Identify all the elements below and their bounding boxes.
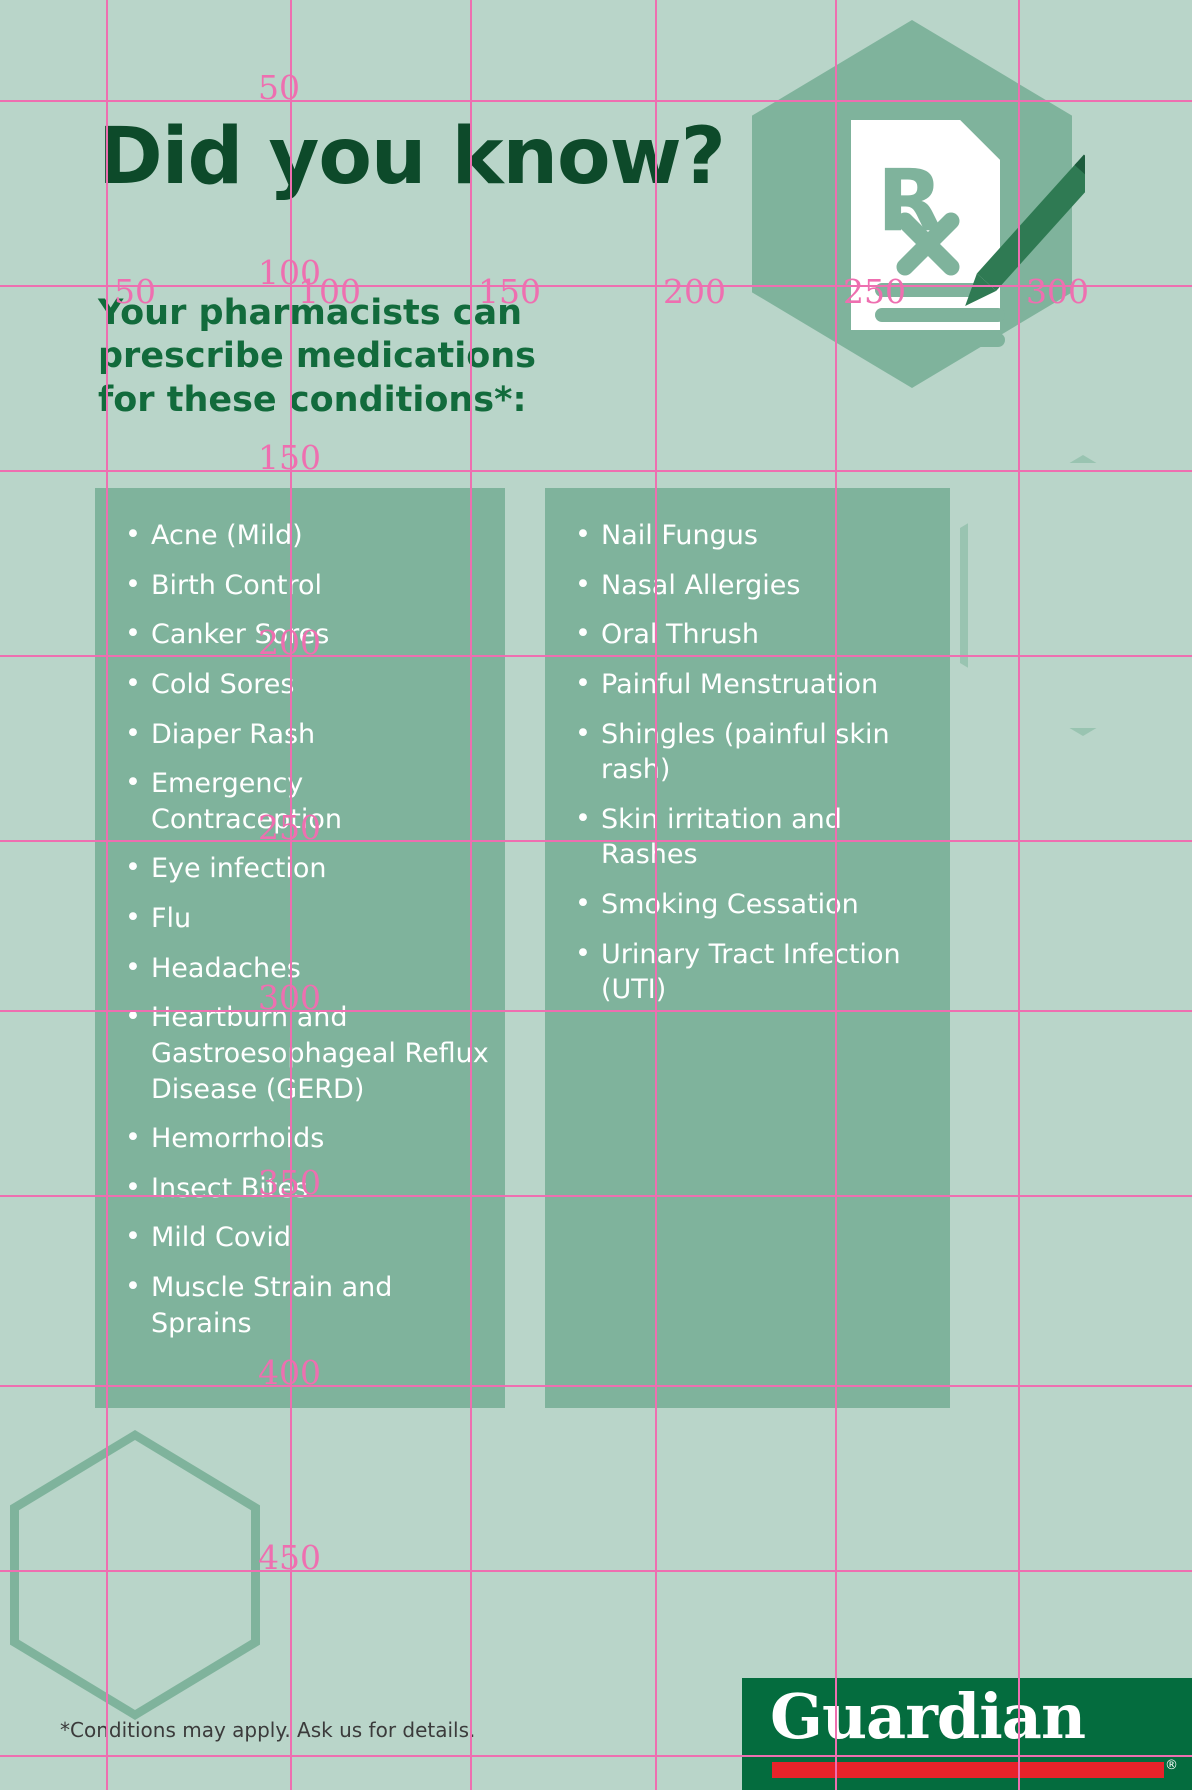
page-subtitle: Your pharmacists can prescribe medicatio… [98, 292, 618, 422]
list-item: Flu [121, 901, 491, 937]
conditions-panel-right: Nail FungusNasal AllergiesOral ThrushPai… [545, 488, 950, 1408]
list-item: Mild Covid [121, 1220, 491, 1256]
list-item: Emergency Contraception [121, 766, 491, 837]
guardian-logo: Guardian ® [742, 1678, 1192, 1790]
conditions-panel-left: Acne (Mild)Birth ControlCanker SoresCold… [95, 488, 505, 1408]
registered-trademark-mark: ® [1165, 1758, 1178, 1773]
subtitle-line-3: for these conditions*: [98, 379, 618, 422]
rx-prescription-icon: R [755, 35, 1085, 375]
conditions-list-left: Acne (Mild)Birth ControlCanker SoresCold… [121, 518, 491, 1355]
guardian-wordmark: Guardian [770, 1686, 1085, 1748]
list-item: Heartburn and Gastroesophageal Reflux Di… [121, 1000, 491, 1107]
list-item: Urinary Tract Infection (UTI) [571, 937, 936, 1008]
list-item: Oral Thrush [571, 617, 936, 653]
list-item: Nail Fungus [571, 518, 936, 554]
list-item: Cold Sores [121, 667, 491, 703]
list-item: Eye infection [121, 851, 491, 887]
list-item: Diaper Rash [121, 717, 491, 753]
list-item: Nasal Allergies [571, 568, 936, 604]
footnote-disclaimer: *Conditions may apply. Ask us for detail… [60, 1718, 475, 1742]
list-item: Canker Sores [121, 617, 491, 653]
list-item: Shingles (painful skin rash) [571, 717, 936, 788]
subtitle-line-1: Your pharmacists can [98, 292, 618, 335]
list-item: Hemorrhoids [121, 1121, 491, 1157]
guardian-red-bar [772, 1762, 1164, 1778]
page-title: Did you know? [98, 118, 725, 196]
list-item: Muscle Strain and Sprains [121, 1270, 491, 1341]
list-item: Painful Menstruation [571, 667, 936, 703]
list-item: Birth Control [121, 568, 491, 604]
conditions-list-right: Nail FungusNasal AllergiesOral ThrushPai… [571, 518, 936, 1022]
list-item: Acne (Mild) [121, 518, 491, 554]
list-item: Insect Bites [121, 1171, 491, 1207]
list-item: Skin irritation and Rashes [571, 802, 936, 873]
poster-canvas: R Did you know? Your pharmacists can pre… [0, 0, 1192, 1790]
list-item: Smoking Cessation [571, 887, 936, 923]
list-item: Headaches [121, 951, 491, 987]
subtitle-line-2: prescribe medications [98, 335, 618, 378]
